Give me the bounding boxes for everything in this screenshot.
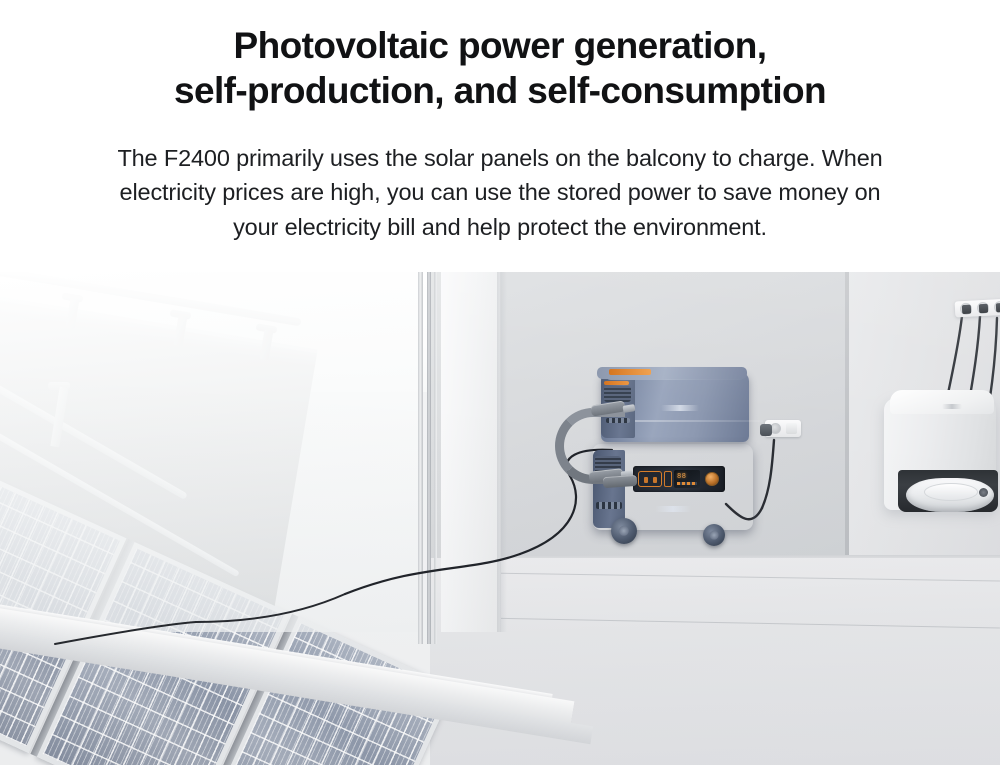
vent-grille-icon — [604, 386, 631, 402]
control-button-row[interactable] — [596, 502, 622, 509]
dock-top-cover — [890, 390, 994, 414]
portable-power-station-stack: 88 — [583, 372, 758, 552]
lcd-battery-bar — [677, 482, 697, 485]
dock-docking-bay — [898, 470, 998, 512]
robot-lid — [924, 483, 978, 501]
product-feature-section: Photovoltaic power generation, self-prod… — [0, 0, 1000, 765]
socket-plug — [760, 424, 772, 436]
wall-power-strip[interactable] — [955, 299, 1000, 318]
lcd-display: 88 — [674, 470, 700, 488]
scene-photograph: 88 — [0, 272, 1000, 765]
door-mullion — [434, 272, 437, 644]
robot-vacuum-dock — [884, 382, 1000, 527]
brand-logo — [661, 405, 699, 411]
brand-logo — [655, 506, 691, 512]
headline-line-1: Photovoltaic power generation, — [234, 25, 767, 66]
lcd-value: 88 — [677, 474, 686, 481]
description-line-3: your electricity bill and help protect t… — [50, 210, 950, 244]
description-line-2: electricity prices are high, you can use… — [50, 175, 950, 209]
control-panel: 88 — [633, 466, 725, 492]
sliding-door-glass — [0, 272, 420, 632]
headline-line-2: self-production, and self-consumption — [20, 68, 980, 113]
ac-outlet-secondary-icon[interactable] — [664, 471, 672, 487]
description-line-1: The F2400 primarily uses the solar panel… — [50, 141, 950, 175]
accent-stripe — [604, 381, 629, 385]
copy-block: Photovoltaic power generation, self-prod… — [0, 0, 1000, 272]
robot-sensor-icon — [979, 488, 988, 497]
description-paragraph: The F2400 primarily uses the solar panel… — [50, 141, 950, 244]
dock-brand-mark — [942, 404, 962, 409]
power-strip-plug — [996, 303, 1000, 312]
body-groove — [635, 420, 763, 422]
socket-switch[interactable] — [786, 423, 797, 434]
ac-outlet-icon[interactable] — [638, 471, 662, 487]
power-strip-plug — [979, 304, 988, 313]
power-strip-plug — [962, 305, 971, 314]
door-mullion — [427, 272, 431, 644]
door-pier-shadow — [497, 272, 507, 632]
cable-plug — [603, 475, 638, 488]
transport-wheel — [703, 524, 725, 546]
page-title: Photovoltaic power generation, self-prod… — [20, 23, 980, 113]
accent-tab — [609, 369, 651, 375]
dc-port-dial-icon[interactable] — [705, 472, 719, 486]
door-mullion — [418, 272, 423, 644]
door-pier-column — [441, 272, 501, 632]
robot-vacuum — [906, 478, 994, 512]
transport-wheel — [611, 518, 637, 544]
